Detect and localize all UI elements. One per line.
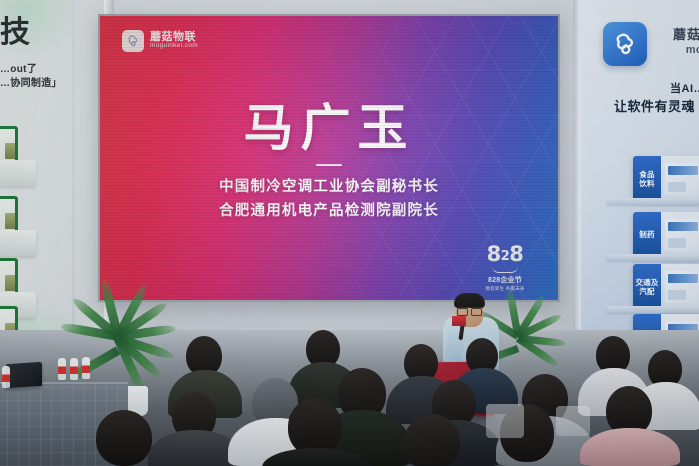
- wall-shelf-ledge-2: [0, 230, 36, 256]
- right-booth-brand-en: mo: [686, 44, 699, 56]
- category-label-line2: 饮料: [639, 179, 654, 188]
- category-tab-food-beverage: 食品 饮料: [633, 156, 661, 202]
- audience-head: [96, 410, 152, 466]
- category-label-line2: 汽配: [635, 287, 658, 296]
- category-panel-food-beverage[interactable]: 食品 饮料: [633, 156, 699, 202]
- led-screen-frame: 蘑菇物联 moguinker.com 马广玉 中国制冷空调工业协会副秘书长 合肥…: [98, 14, 560, 302]
- screen-vignette: [100, 16, 558, 300]
- chair-back: [556, 406, 590, 436]
- right-booth-tagline-top: 当AI…: [670, 80, 699, 96]
- presentation-slide: 蘑菇物联 moguinker.com 马广玉 中国制冷空调工业协会副秘书长 合肥…: [100, 16, 558, 300]
- presentation-photo-scene: 技 …out了 …协同制造」: [0, 0, 699, 466]
- left-wall-sign-title: 技: [0, 18, 31, 48]
- right-booth-seam: [573, 0, 581, 356]
- speaker-glasses-icon: [457, 307, 482, 314]
- category-tab-transport-auto: 交通及 汽配: [633, 264, 661, 310]
- audience-head: [404, 414, 460, 466]
- category-thumbnail: [665, 271, 699, 303]
- left-wall-sign-line1: …out了: [0, 63, 62, 77]
- water-bottle: [58, 358, 66, 380]
- chair-back: [486, 404, 524, 438]
- laptop-icon: [6, 362, 42, 389]
- left-wall-sign-line2: …协同制造」: [0, 77, 62, 91]
- category-shelf-3: [607, 306, 699, 313]
- category-panel-pharma[interactable]: 制药: [633, 212, 699, 258]
- microphone-flag: [452, 316, 466, 326]
- category-label-line1: 交通及: [635, 278, 658, 287]
- category-label-line1: 制药: [639, 230, 654, 239]
- category-thumbnail: [665, 163, 699, 195]
- speaker-hair: [454, 293, 485, 308]
- wall-shelf-ledge-1: [0, 160, 36, 186]
- water-bottle: [82, 357, 90, 379]
- left-booth-wall: 技 …out了 …协同制造」: [0, 0, 112, 352]
- right-booth-tagline-main: 让软件有灵魂: [614, 96, 695, 115]
- category-shelf-1: [607, 198, 699, 205]
- blue-cloud-mushroom-icon: [603, 22, 647, 66]
- right-booth-wall: 蘑菇 mo 当AI… 让软件有灵魂 食品 饮料 制药: [577, 0, 699, 356]
- category-shelf-2: [607, 254, 699, 261]
- water-bottle: [70, 358, 78, 380]
- category-thumbnail: [665, 219, 699, 251]
- category-tab-pharma: 制药: [633, 212, 661, 258]
- right-booth-brand-cn: 蘑菇: [673, 24, 699, 43]
- category-panel-transport-auto[interactable]: 交通及 汽配: [633, 264, 699, 310]
- left-wall-sign-subtitle: …out了 …协同制造」: [0, 63, 62, 90]
- category-label-line1: 食品: [639, 170, 654, 179]
- water-bottle: [2, 366, 10, 388]
